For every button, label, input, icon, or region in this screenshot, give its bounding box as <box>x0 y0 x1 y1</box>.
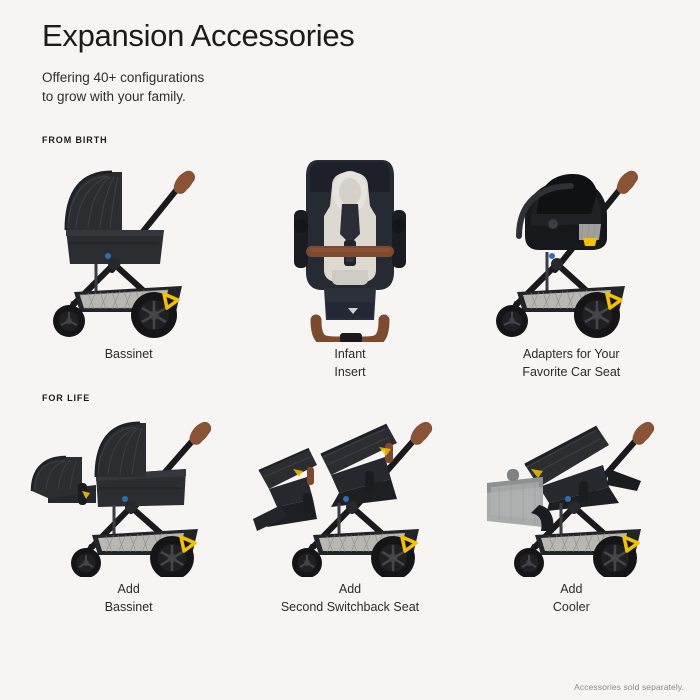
stroller-bassinet-icon <box>36 152 221 342</box>
product-card-infant-insert[interactable]: Infant Insert <box>239 147 460 382</box>
product-caption: Add Bassinet <box>105 581 153 617</box>
product-caption: Bassinet <box>105 346 153 364</box>
stroller-car-seat-illustration <box>461 147 682 342</box>
product-caption: Add Second Switchback Seat <box>281 581 419 617</box>
product-caption: Infant Insert <box>334 346 365 382</box>
page-subtitle: Offering 40+ configurations to grow with… <box>42 68 700 107</box>
product-card-add-bassinet[interactable]: Add Bassinet <box>18 407 239 617</box>
header: Expansion Accessories Offering 40+ confi… <box>0 0 700 107</box>
product-caption: Add Cooler <box>553 581 590 617</box>
product-card-add-cooler[interactable]: Add Cooler <box>461 407 682 617</box>
stroller-double-seat-icon <box>247 407 452 577</box>
stroller-cooler-icon <box>469 407 674 577</box>
infant-insert-illustration <box>239 147 460 342</box>
stroller-double-bassinet-icon <box>26 407 231 577</box>
product-card-add-second-seat[interactable]: Add Second Switchback Seat <box>239 407 460 617</box>
section-for-life: FOR LIFE <box>0 393 700 617</box>
product-grid-for-life: Add Bassinet <box>0 407 700 617</box>
product-caption: Adapters for Your Favorite Car Seat <box>522 346 620 382</box>
section-label-from-birth: FROM BIRTH <box>0 135 700 145</box>
stroller-bassinet-illustration <box>18 147 239 342</box>
expansion-accessories-page: Expansion Accessories Offering 40+ confi… <box>0 0 700 700</box>
product-card-car-seat-adapters[interactable]: Adapters for Your Favorite Car Seat <box>461 147 682 382</box>
stroller-double-seat-illustration <box>239 407 460 577</box>
footnote-disclaimer: Accessories sold separately. <box>574 682 684 692</box>
stroller-cooler-illustration <box>461 407 682 577</box>
stroller-car-seat-icon <box>479 152 664 342</box>
product-card-bassinet[interactable]: Bassinet <box>18 147 239 382</box>
section-label-for-life: FOR LIFE <box>0 393 700 403</box>
section-from-birth: FROM BIRTH <box>0 135 700 382</box>
infant-insert-icon <box>280 152 420 342</box>
product-grid-from-birth: Bassinet <box>0 147 700 382</box>
page-title: Expansion Accessories <box>42 18 700 54</box>
stroller-double-bassinet-illustration <box>18 407 239 577</box>
